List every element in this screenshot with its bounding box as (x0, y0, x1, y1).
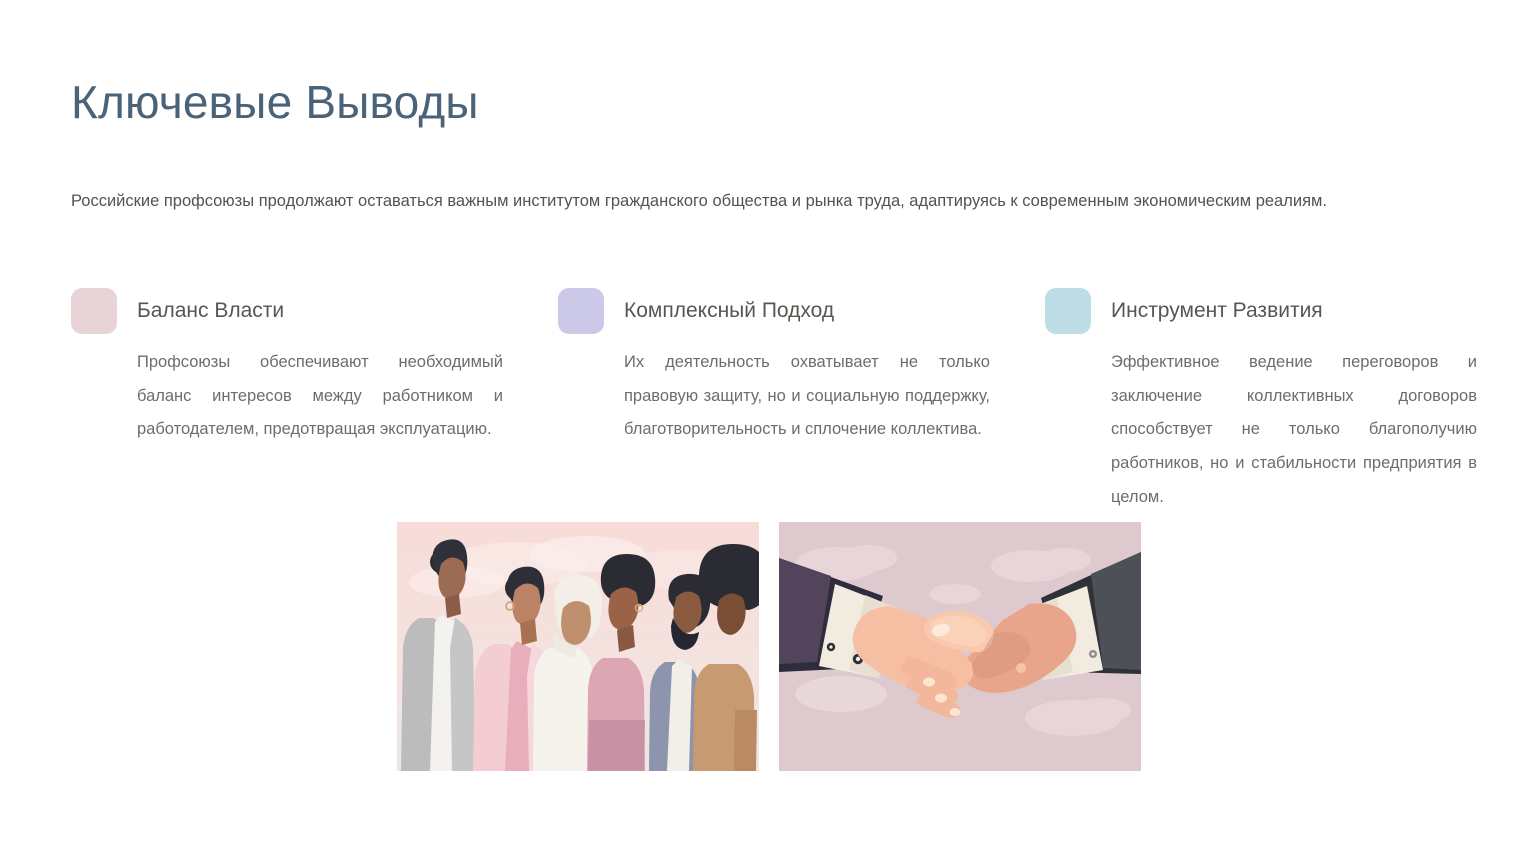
teal-rounded-square-icon (1045, 288, 1091, 334)
feature-card-development-tool: Инструмент Развития Эффективное ведение … (1045, 288, 1466, 514)
slide-root: Ключевые Выводы Российские профсоюзы про… (0, 0, 1536, 864)
handshake-illustration (779, 522, 1141, 771)
feature-cards-row: Баланс Власти Профсоюзы обеспечивают нео… (71, 288, 1467, 514)
lavender-rounded-square-icon (558, 288, 604, 334)
feature-card-body: Эффективное ведение переговоров и заключ… (1111, 346, 1477, 514)
illustrations-row (397, 522, 1141, 771)
feature-card-header: Комплексный Подход (558, 288, 979, 334)
page-title: Ключевые Выводы (71, 76, 479, 129)
intro-paragraph: Российские профсоюзы продолжают оставать… (71, 184, 1411, 218)
pink-rounded-square-icon (71, 288, 117, 334)
diverse-group-illustration (397, 522, 759, 771)
feature-card-title: Комплексный Подход (624, 288, 834, 334)
feature-card-title: Инструмент Развития (1111, 288, 1323, 334)
feature-card-header: Инструмент Развития (1045, 288, 1466, 334)
feature-card-header: Баланс Власти (71, 288, 492, 334)
feature-card-comprehensive-approach: Комплексный Подход Их деятельность охват… (558, 288, 979, 514)
feature-card-body: Профсоюзы обеспечивают необходимый балан… (137, 346, 503, 447)
feature-card-body: Их деятельность охватывает не только пра… (624, 346, 990, 447)
feature-card-balance-of-power: Баланс Власти Профсоюзы обеспечивают нео… (71, 288, 492, 514)
feature-card-title: Баланс Власти (137, 288, 284, 334)
